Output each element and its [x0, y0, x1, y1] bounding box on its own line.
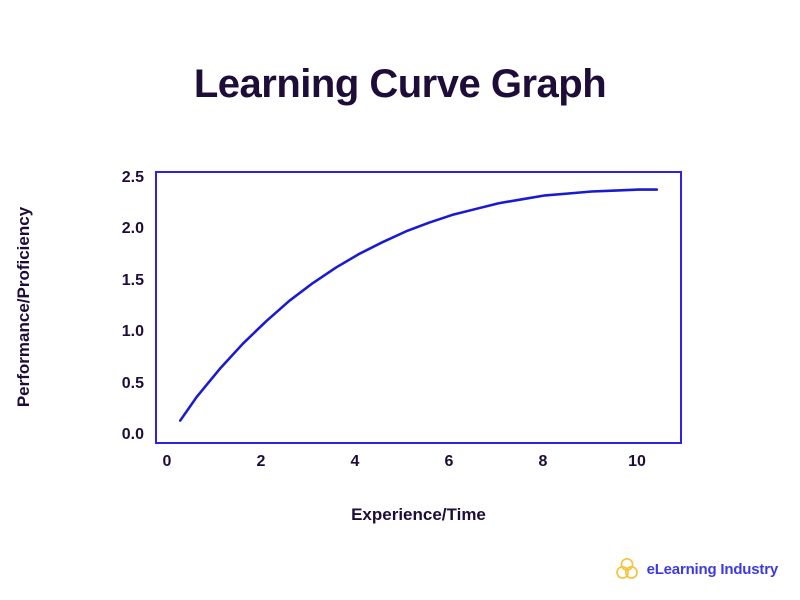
y-tick-label: 0.5 [122, 375, 144, 393]
plot-area [155, 171, 682, 444]
y-tick-label: 2.0 [122, 220, 144, 238]
x-tick-label: 2 [257, 453, 266, 471]
x-axis-tick-labels: 0 2 4 6 8 10 [0, 453, 800, 475]
y-axis-title: Performance/Proficiency [14, 207, 34, 407]
x-tick-label: 6 [445, 453, 454, 471]
y-tick-label: 1.0 [122, 323, 144, 341]
y-tick-label: 0.0 [122, 426, 144, 444]
x-axis-title: Experience/Time [155, 505, 682, 525]
x-tick-label: 10 [628, 453, 646, 471]
brand-name: eLearning Industry [647, 561, 778, 578]
y-tick-label: 2.5 [122, 169, 144, 187]
y-tick-label: 1.5 [122, 272, 144, 290]
x-tick-label: 8 [539, 453, 548, 471]
three-circles-icon [614, 556, 640, 582]
x-tick-label: 4 [351, 453, 360, 471]
learning-curve-line [157, 173, 680, 442]
y-axis-tick-labels: 2.5 2.0 1.5 1.0 0.5 0.0 [100, 0, 144, 600]
x-tick-label: 0 [163, 453, 172, 471]
brand-logo[interactable]: eLearning Industry [614, 556, 778, 582]
chart-figure: Learning Curve Graph 2.5 2.0 1.5 1.0 0.5… [0, 0, 800, 600]
curve-polyline [180, 190, 657, 421]
